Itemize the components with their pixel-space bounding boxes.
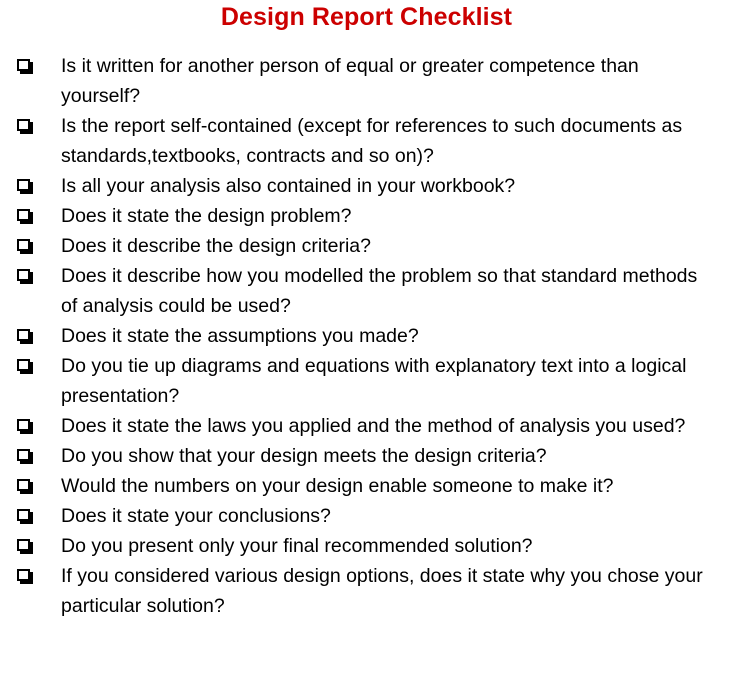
check-box-bullet-icon[interactable] — [17, 179, 30, 191]
list-item[interactable]: Does it describe the design criteria? — [0, 231, 733, 261]
check-box-bullet-icon[interactable] — [17, 569, 30, 581]
check-box-outline — [17, 509, 30, 521]
list-item-label: Do you present only your final recommend… — [61, 531, 712, 561]
check-box-bullet-icon[interactable] — [17, 359, 30, 371]
list-item[interactable]: Is all your analysis also contained in y… — [0, 171, 733, 201]
list-item-label: Does it state the assumptions you made? — [61, 321, 712, 351]
check-box-outline — [17, 269, 30, 281]
list-item-label: Is it written for another person of equa… — [61, 51, 712, 111]
list-item[interactable]: Do you show that your design meets the d… — [0, 441, 733, 471]
check-box-outline — [17, 209, 30, 221]
check-box-bullet-icon[interactable] — [17, 239, 30, 251]
list-item-label: Do you show that your design meets the d… — [61, 441, 712, 471]
list-item[interactable]: Does it state the laws you applied and t… — [0, 411, 733, 441]
list-item[interactable]: Is it written for another person of equa… — [0, 51, 733, 111]
list-item[interactable]: Does it state the assumptions you made? — [0, 321, 733, 351]
check-box-outline — [17, 539, 30, 551]
list-item[interactable]: If you considered various design options… — [0, 561, 733, 621]
check-box-bullet-icon[interactable] — [17, 329, 30, 341]
check-box-bullet-icon[interactable] — [17, 119, 30, 131]
check-box-outline — [17, 59, 30, 71]
list-item-label: Do you tie up diagrams and equations wit… — [61, 351, 712, 411]
list-item[interactable]: Does it describe how you modelled the pr… — [0, 261, 733, 321]
list-item-label: Is the report self-contained (except for… — [61, 111, 712, 171]
check-box-bullet-icon[interactable] — [17, 509, 30, 521]
list-item[interactable]: Do you tie up diagrams and equations wit… — [0, 351, 733, 411]
check-box-bullet-icon[interactable] — [17, 59, 30, 71]
list-item-label: Does it describe how you modelled the pr… — [61, 261, 712, 321]
slide-canvas: Design Report Checklist Is it written fo… — [0, 0, 733, 679]
list-item-label: Does it state the laws you applied and t… — [61, 411, 712, 441]
list-item-label: If you considered various design options… — [61, 561, 712, 621]
list-item-label: Does it state the design problem? — [61, 201, 712, 231]
page-title: Design Report Checklist — [0, 2, 733, 32]
check-box-bullet-icon[interactable] — [17, 209, 30, 221]
list-item[interactable]: Is the report self-contained (except for… — [0, 111, 733, 171]
check-box-bullet-icon[interactable] — [17, 449, 30, 461]
check-box-bullet-icon[interactable] — [17, 269, 30, 281]
check-box-outline — [17, 479, 30, 491]
list-item-label: Does it state your conclusions? — [61, 501, 712, 531]
checklist: Is it written for another person of equa… — [0, 51, 733, 621]
check-box-outline — [17, 329, 30, 341]
check-box-bullet-icon[interactable] — [17, 479, 30, 491]
check-box-outline — [17, 179, 30, 191]
list-item[interactable]: Does it state your conclusions? — [0, 501, 733, 531]
list-item-label: Is all your analysis also contained in y… — [61, 171, 712, 201]
list-item[interactable]: Do you present only your final recommend… — [0, 531, 733, 561]
check-box-bullet-icon[interactable] — [17, 539, 30, 551]
check-box-outline — [17, 419, 30, 431]
check-box-outline — [17, 569, 30, 581]
check-box-outline — [17, 239, 30, 251]
check-box-bullet-icon[interactable] — [17, 419, 30, 431]
list-item-label: Does it describe the design criteria? — [61, 231, 712, 261]
check-box-outline — [17, 359, 30, 371]
check-box-outline — [17, 119, 30, 131]
list-item[interactable]: Does it state the design problem? — [0, 201, 733, 231]
list-item-label: Would the numbers on your design enable … — [61, 471, 712, 501]
check-box-outline — [17, 449, 30, 461]
list-item[interactable]: Would the numbers on your design enable … — [0, 471, 733, 501]
